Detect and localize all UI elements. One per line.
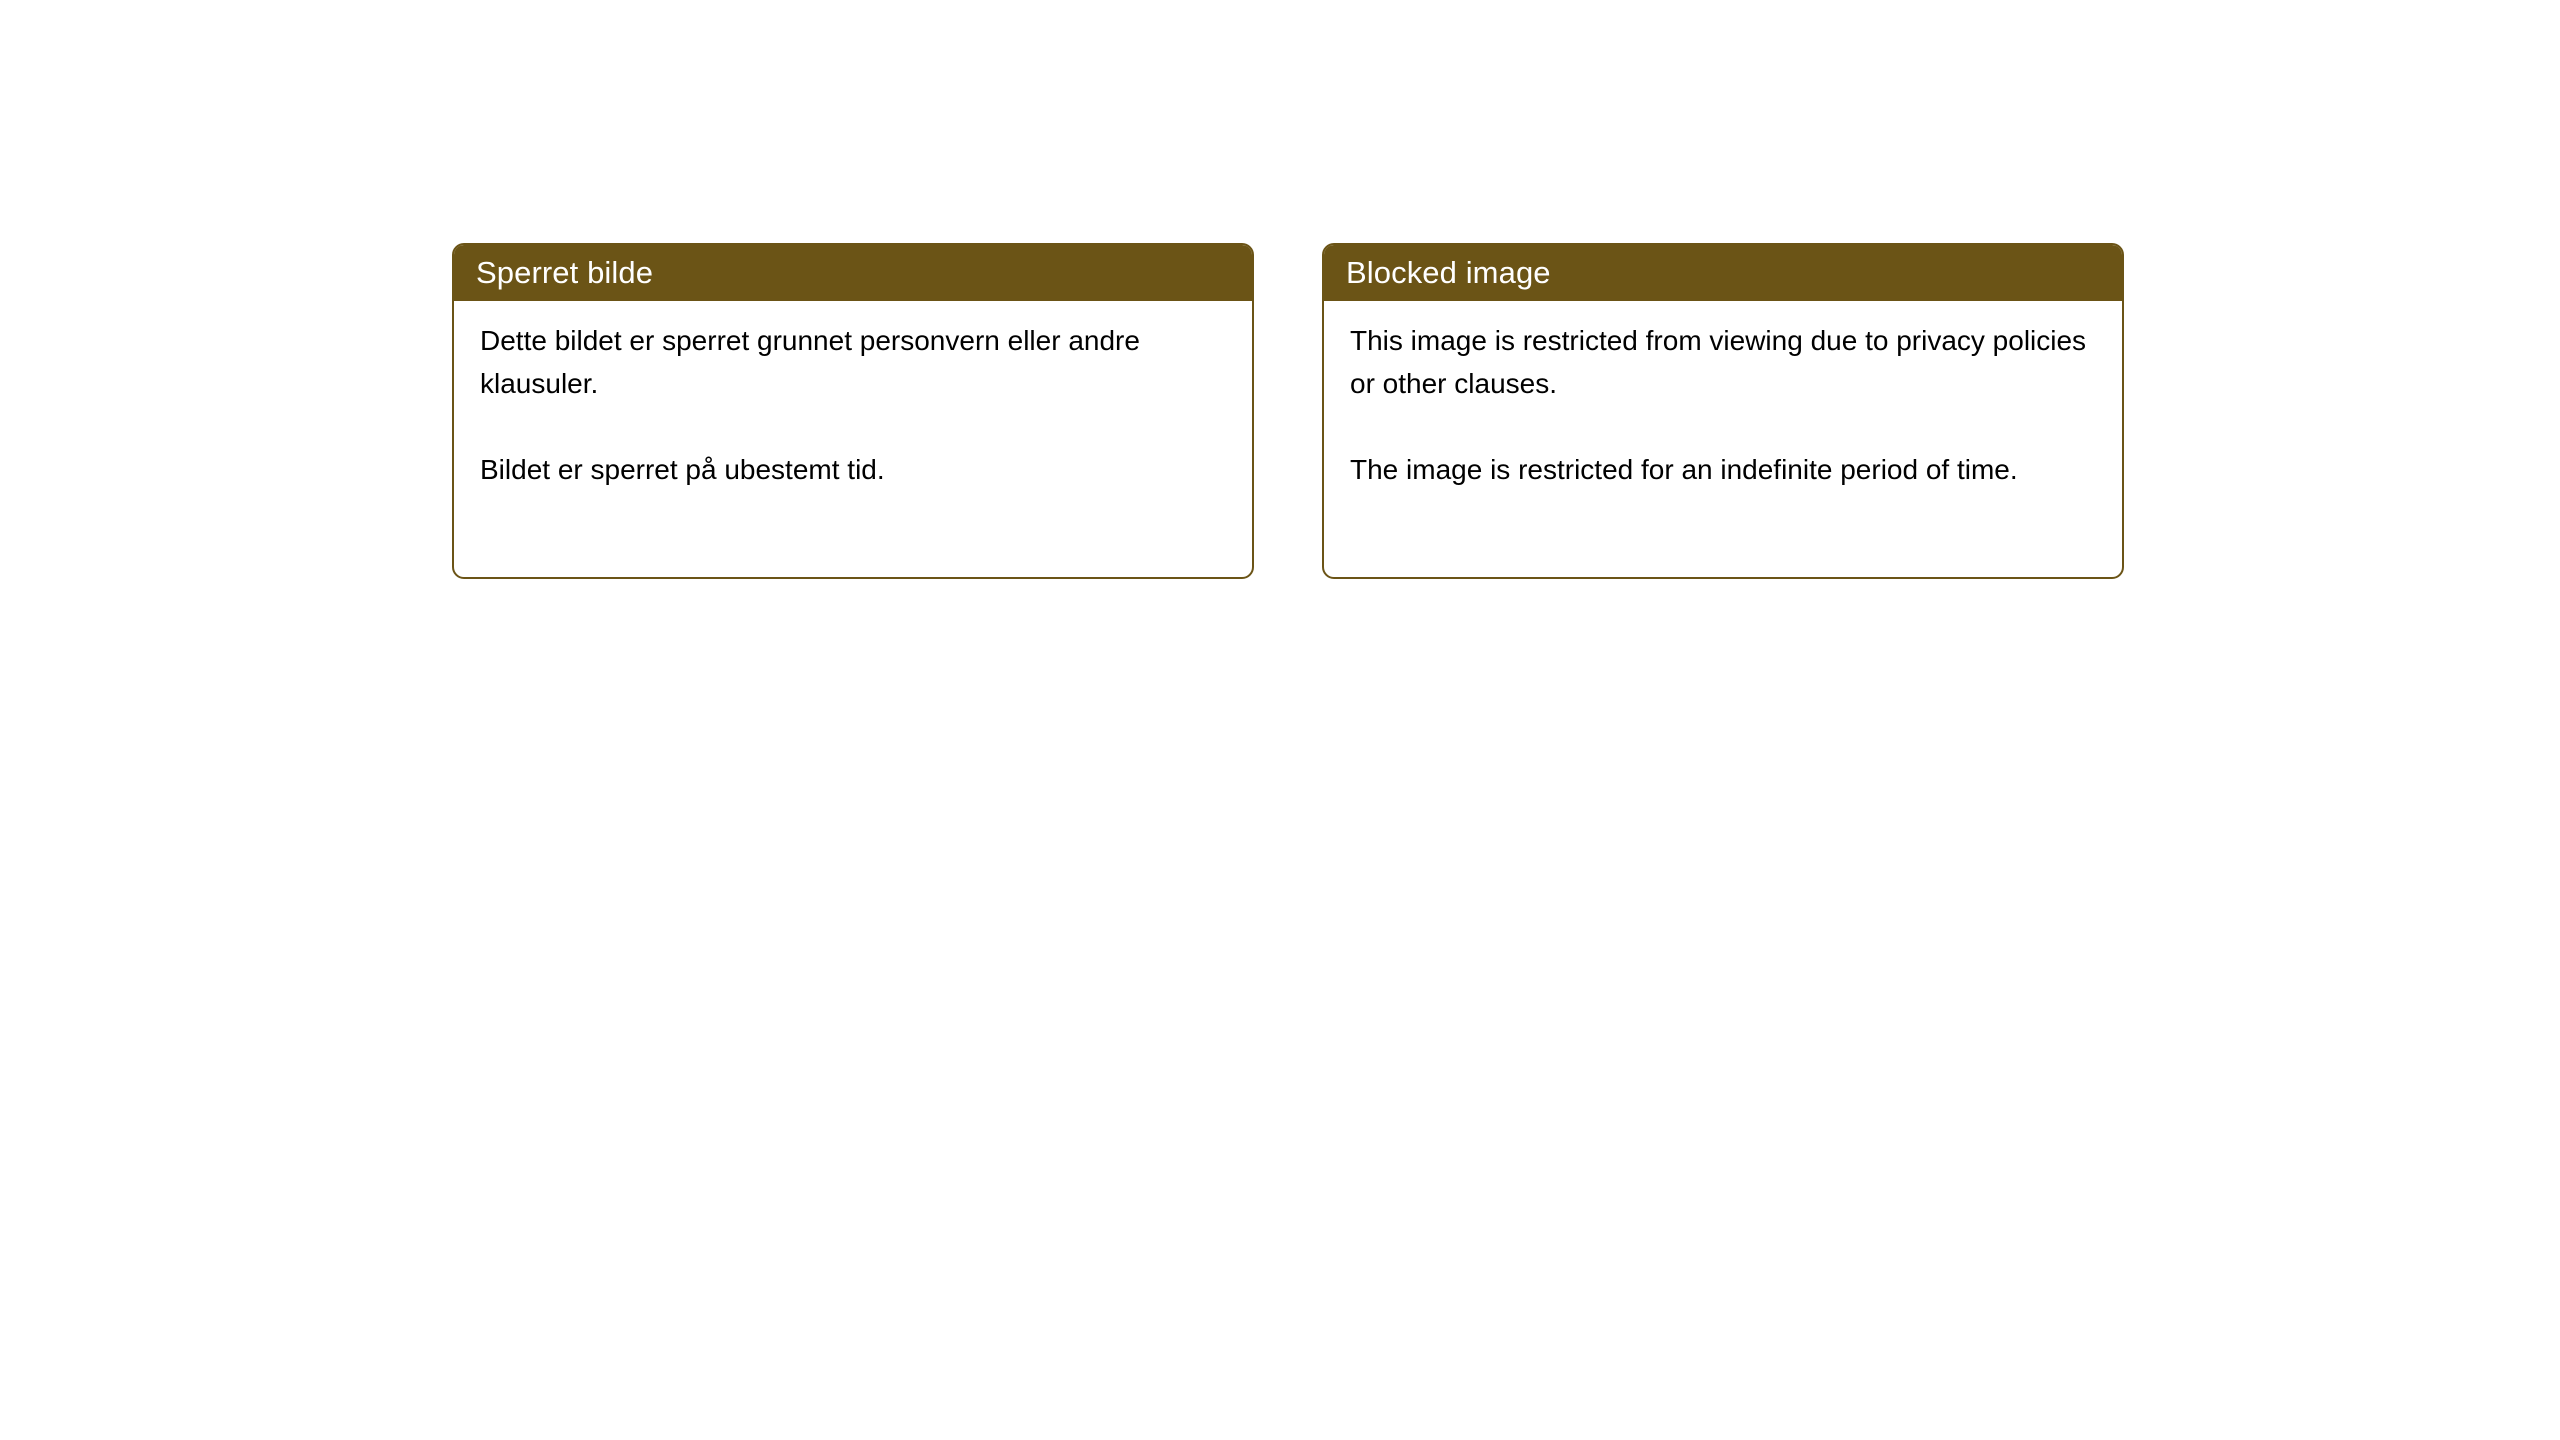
- notice-paragraph-primary-norwegian: Dette bildet er sperret grunnet personve…: [480, 319, 1226, 405]
- notice-paragraph-secondary-norwegian: Bildet er sperret på ubestemt tid.: [480, 448, 1226, 491]
- panel-title-norwegian: Sperret bilde: [476, 257, 653, 288]
- panel-body-norwegian: Dette bildet er sperret grunnet personve…: [454, 301, 1252, 491]
- notice-paragraph-secondary-english: The image is restricted for an indefinit…: [1350, 448, 2096, 491]
- panel-title-english: Blocked image: [1346, 257, 1551, 288]
- paragraph-spacer: [480, 405, 1226, 448]
- panel-body-english: This image is restricted from viewing du…: [1324, 301, 2122, 491]
- notice-paragraph-primary-english: This image is restricted from viewing du…: [1350, 319, 2096, 405]
- blocked-image-notice-english: Blocked image This image is restricted f…: [1322, 243, 2124, 579]
- panel-header-english: Blocked image: [1322, 243, 2124, 301]
- panel-header-norwegian: Sperret bilde: [452, 243, 1254, 301]
- page-canvas: Sperret bilde Dette bildet er sperret gr…: [0, 0, 2560, 1440]
- blocked-image-notice-norwegian: Sperret bilde Dette bildet er sperret gr…: [452, 243, 1254, 579]
- paragraph-spacer: [1350, 405, 2096, 448]
